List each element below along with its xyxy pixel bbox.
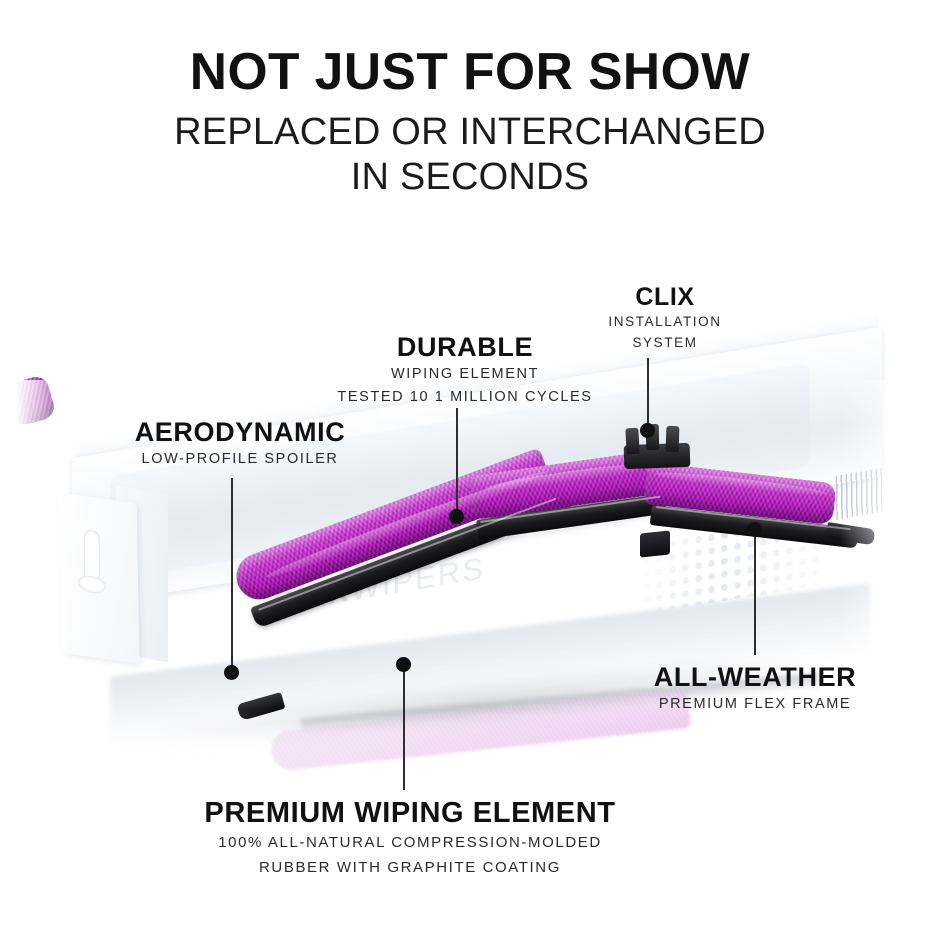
infographic-canvas: NOT JUST FOR SHOW REPLACED OR INTERCHANG… <box>0 0 940 940</box>
page-subtitle-line-2: IN SECONDS <box>0 155 940 200</box>
leader-dot-clix <box>640 423 655 438</box>
callout-all-weather-subtitle-line-1: PREMIUM FLEX FRAME <box>595 695 915 714</box>
callout-aerodynamic: AERODYNAMIC LOW-PROFILE SPOILER <box>40 418 440 469</box>
leader-dot-aerodynamic <box>224 665 239 680</box>
callout-aerodynamic-title: AERODYNAMIC <box>40 418 440 446</box>
callout-durable-subtitle-line-2: TESTED 10 1 MILLION CYCLES <box>310 388 620 407</box>
clix-connector-prong-left <box>625 428 639 455</box>
leader-line-premium-wiping-element <box>403 668 405 790</box>
clix-connector-prong-right <box>666 426 680 452</box>
page-title: NOT JUST FOR SHOW <box>5 46 936 99</box>
callout-premium-wiping-element-subtitle-line-2: RUBBER WITH GRAPHITE COATING <box>110 858 710 877</box>
leader-line-durable <box>456 408 458 518</box>
page-subtitle: REPLACED OR INTERCHANGED IN SECONDS <box>0 110 940 200</box>
callout-clix: CLIX INSTALLATION SYSTEM <box>545 284 785 351</box>
callout-premium-wiping-element-subtitle-line-1: 100% ALL-NATURAL COMPRESSION-MOLDED <box>110 833 710 852</box>
callout-aerodynamic-subtitle-line-1: LOW-PROFILE SPOILER <box>40 450 440 469</box>
callout-all-weather-title: ALL-WEATHER <box>595 663 915 691</box>
callout-premium-wiping-element: PREMIUM WIPING ELEMENT 100% ALL-NATURAL … <box>110 798 710 877</box>
callout-clix-title: CLIX <box>545 284 785 310</box>
leader-line-aerodynamic <box>231 478 233 674</box>
leader-dot-durable <box>449 509 464 524</box>
clix-connector-clip <box>640 530 670 557</box>
leader-line-all-weather <box>754 533 756 655</box>
callout-durable-subtitle-line-1: WIPING ELEMENT <box>310 365 620 384</box>
page-subtitle-line-1: REPLACED OR INTERCHANGED <box>0 110 940 155</box>
leader-line-clix <box>647 358 649 432</box>
leader-dot-premium-wiping-element <box>396 657 411 672</box>
leader-dot-all-weather <box>747 522 762 537</box>
callout-clix-subtitle-line-2: SYSTEM <box>545 334 785 351</box>
callout-clix-subtitle-line-1: INSTALLATION <box>545 313 785 330</box>
callout-all-weather: ALL-WEATHER PREMIUM FLEX FRAME <box>595 663 915 714</box>
callout-premium-wiping-element-title: PREMIUM WIPING ELEMENT <box>110 798 710 828</box>
